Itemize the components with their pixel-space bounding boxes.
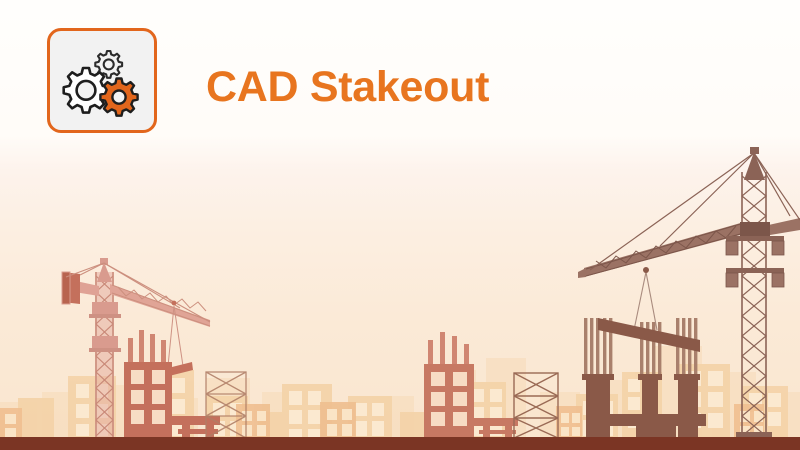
gears-icon <box>62 45 142 117</box>
header: CAD Stakeout <box>0 0 800 160</box>
accent-gear <box>100 78 137 115</box>
page-title: CAD Stakeout <box>206 63 489 112</box>
logo-card <box>47 28 157 133</box>
banner: CAD Stakeout <box>0 0 800 450</box>
ground-strip <box>0 437 800 450</box>
large-gear <box>64 68 109 113</box>
